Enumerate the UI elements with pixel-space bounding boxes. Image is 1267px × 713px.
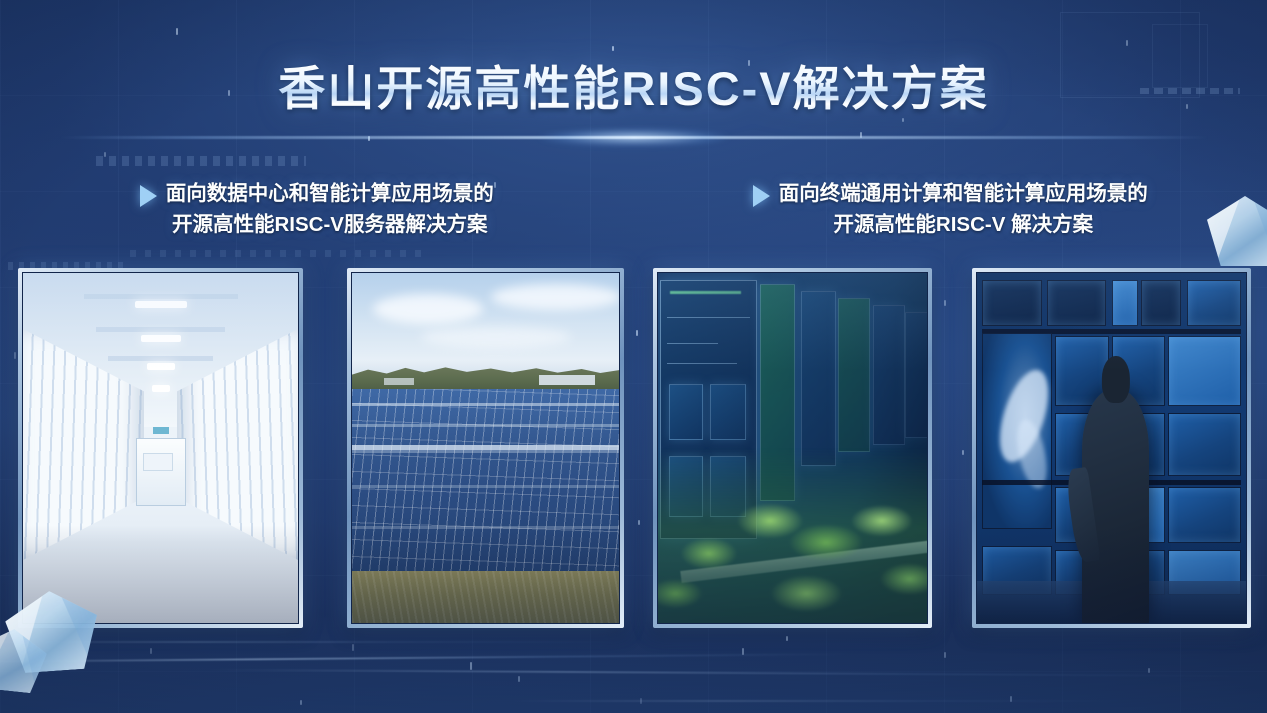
background-streak [507,700,1141,702]
slide-title-area: 香山开源高性能RISC-V解决方案 [0,62,1267,117]
heading-terminal-text: 面向终端通用计算和智能计算应用场景的 开源高性能RISC-V 解决方案 [779,178,1148,240]
heading-server-text: 面向数据中心和智能计算应用场景的 开源高性能RISC-V服务器解决方案 [166,178,494,240]
panel-control-frame [976,272,1247,624]
heading-column-terminal: 面向终端通用计算和智能计算应用场景的 开源高性能RISC-V 解决方案 [634,178,1267,240]
play-triangle-icon [753,185,770,207]
operator-silhouette [1082,389,1149,624]
heading-terminal: 面向终端通用计算和智能计算应用场景的 开源高性能RISC-V 解决方案 [753,178,1148,240]
heading-server: 面向数据中心和智能计算应用场景的 开源高性能RISC-V服务器解决方案 [140,178,494,240]
headings-row: 面向数据中心和智能计算应用场景的 开源高性能RISC-V服务器解决方案 面向终端… [0,178,1267,240]
background-data-strip [130,250,430,257]
control-room-image [977,273,1246,623]
panel-datacenter-frame [22,272,299,624]
panel-control-room[interactable] [972,268,1251,628]
heading-server-line1: 面向数据中心和智能计算应用场景的 [166,182,494,205]
background-streak [0,653,849,663]
smart-agriculture-image [658,273,927,623]
panel-datacenter[interactable] [18,268,303,628]
heading-server-line2: 开源高性能RISC-V服务器解决方案 [166,209,494,240]
presentation-slide: 香山开源高性能RISC-V解决方案 面向数据中心和智能计算应用场景的 开源高性能… [0,0,1267,713]
heading-terminal-line2: 开源高性能RISC-V 解决方案 [779,209,1148,240]
title-divider-glow [59,136,1209,139]
background-streak [0,641,634,643]
panel-agri-frame [657,272,928,624]
heading-column-server: 面向数据中心和智能计算应用场景的 开源高性能RISC-V服务器解决方案 [0,178,634,240]
panel-solar-farm[interactable] [347,268,624,628]
solar-farm-image [352,273,619,623]
panel-smart-agriculture[interactable] [653,268,932,628]
background-streak [203,669,1267,678]
play-triangle-icon [140,185,157,207]
image-panels-row [0,268,1267,630]
panel-solar-frame [351,272,620,624]
slide-title: 香山开源高性能RISC-V解决方案 [278,62,988,117]
background-data-strip [96,156,306,166]
data-center-corridor-image [23,273,298,623]
heading-terminal-line1: 面向终端通用计算和智能计算应用场景的 [779,182,1148,205]
